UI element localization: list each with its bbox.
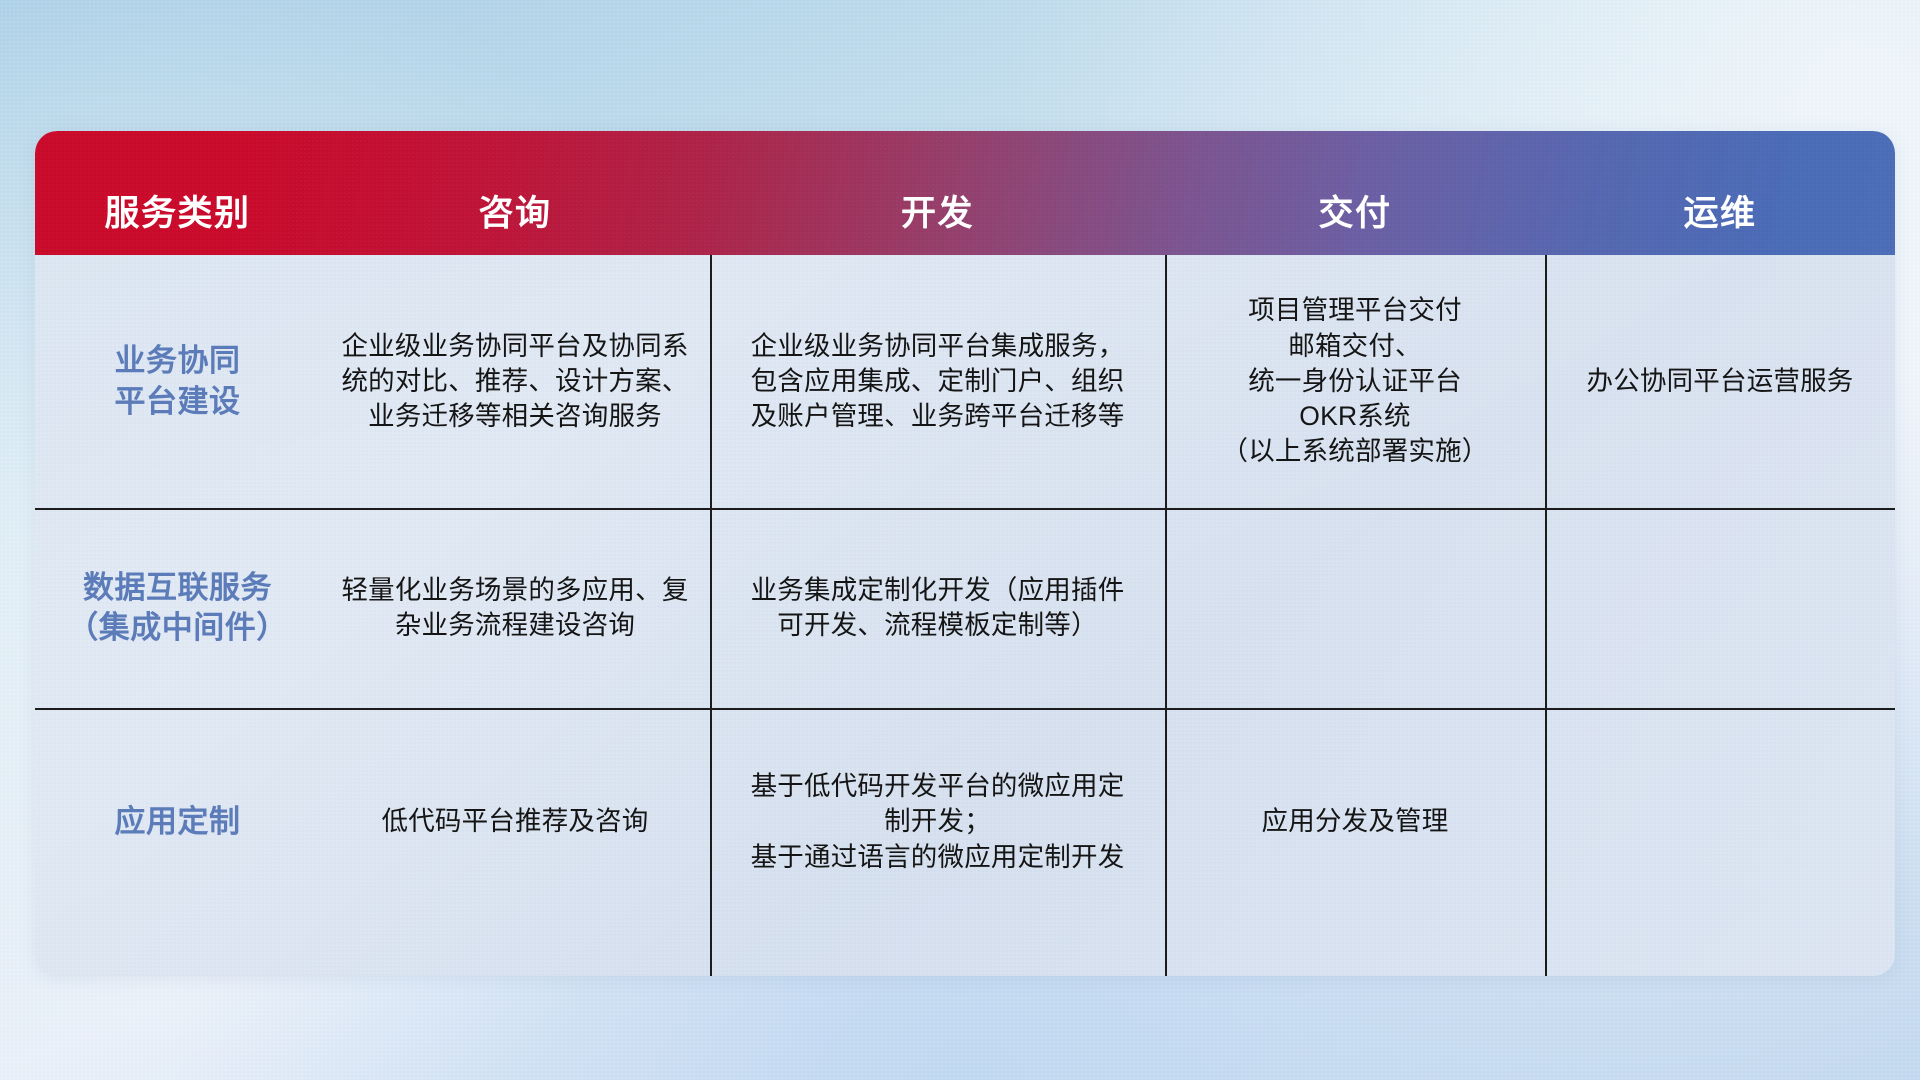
cell-operations: 办公协同平台运营服务 [1545,255,1895,508]
cell-consulting: 低代码平台推荐及咨询 [320,708,710,936]
cell-consulting: 企业级业务协同平台及协同系 统的对比、推荐、设计方案、 业务迁移等相关咨询服务 [320,255,710,508]
column-divider [1545,255,1547,976]
cell-consulting: 轻量化业务场景的多应用、复 杂业务流程建设咨询 [320,508,710,708]
cell-development: 企业级业务协同平台集成服务， 包含应用集成、定制门户、组织 及账户管理、业务跨平… [710,255,1165,508]
row-category-label: 应用定制 [35,708,320,936]
column-header-operations: 运维 [1545,131,1895,255]
row-category-label: 业务协同 平台建设 [35,255,320,508]
cell-text: 项目管理平台交付 邮箱交付、 统一身份认证平台 OKR系统 （以上系统部署实施） [1222,293,1489,469]
table-row: 数据互联服务 （集成中间件） 轻量化业务场景的多应用、复 杂业务流程建设咨询 业… [35,508,1895,708]
cell-text: 轻量化业务场景的多应用、复 杂业务流程建设咨询 [341,573,688,643]
cell-text: 低代码平台推荐及咨询 [382,804,649,839]
cell-delivery [1165,508,1545,708]
column-header-development: 开发 [710,131,1165,255]
table-row: 业务协同 平台建设 企业级业务协同平台及协同系 统的对比、推荐、设计方案、 业务… [35,255,1895,508]
column-header-consulting: 咨询 [320,131,710,255]
cell-delivery: 应用分发及管理 [1165,708,1545,936]
cell-text: 办公协同平台运营服务 [1587,364,1854,399]
cell-operations [1545,508,1895,708]
cell-development: 基于低代码开发平台的微应用定 制开发； 基于通过语言的微应用定制开发 [710,708,1165,936]
service-matrix-card: 服务类别 咨询 开发 交付 运维 业务协同 平台建设 企业级业务协同平台及协同系… [35,131,1895,976]
cell-text: 业务集成定制化开发（应用插件 可开发、流程模板定制等） [751,573,1125,643]
cell-delivery: 项目管理平台交付 邮箱交付、 统一身份认证平台 OKR系统 （以上系统部署实施） [1165,255,1545,508]
cell-development: 业务集成定制化开发（应用插件 可开发、流程模板定制等） [710,508,1165,708]
column-header-category: 服务类别 [35,131,320,255]
cell-text: 企业级业务协同平台及协同系 统的对比、推荐、设计方案、 业务迁移等相关咨询服务 [341,329,688,435]
column-divider [710,255,712,976]
row-label-text: 应用定制 [115,802,241,842]
cell-text: 企业级业务协同平台集成服务， 包含应用集成、定制门户、组织 及账户管理、业务跨平… [751,329,1125,435]
row-category-label: 数据互联服务 （集成中间件） [35,508,320,708]
row-label-text: 数据互联服务 （集成中间件） [67,568,288,649]
table-body: 业务协同 平台建设 企业级业务协同平台及协同系 统的对比、推荐、设计方案、 业务… [35,255,1895,976]
table-header-row: 服务类别 咨询 开发 交付 运维 [35,131,1895,255]
cell-text: 应用分发及管理 [1262,804,1449,839]
column-divider [1165,255,1167,976]
cell-text: 基于低代码开发平台的微应用定 制开发； 基于通过语言的微应用定制开发 [751,769,1125,875]
row-label-text: 业务协同 平台建设 [115,341,241,422]
slide-canvas: 服务类别 咨询 开发 交付 运维 业务协同 平台建设 企业级业务协同平台及协同系… [0,0,1920,1080]
row-divider [35,508,1895,510]
cell-operations [1545,708,1895,936]
row-divider [35,708,1895,710]
table-row: 应用定制 低代码平台推荐及咨询 基于低代码开发平台的微应用定 制开发； 基于通过… [35,708,1895,936]
column-header-delivery: 交付 [1165,131,1545,255]
